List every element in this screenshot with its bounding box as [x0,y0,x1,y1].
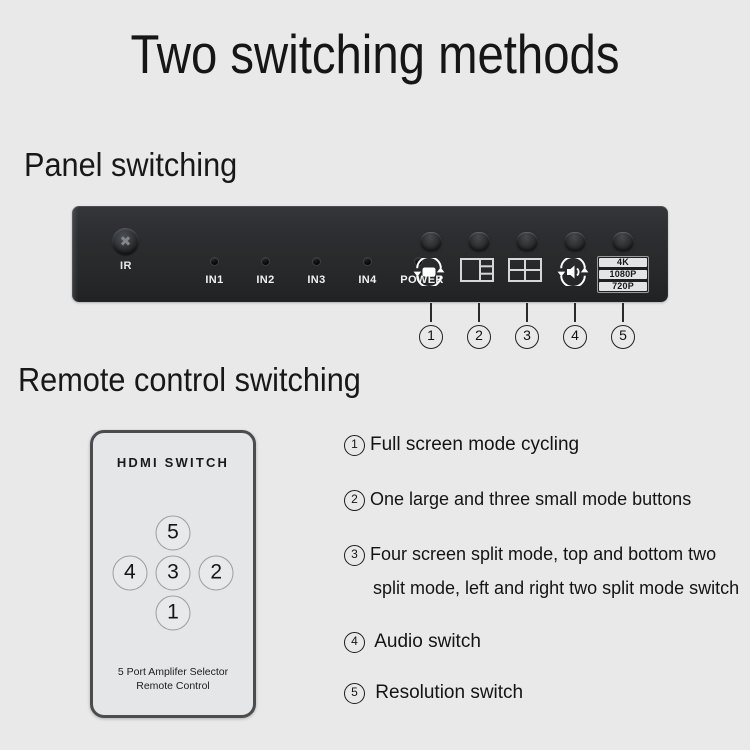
page-root: Two switching methods Panel switching ✖ … [0,0,750,750]
legend-number-3: 3 [344,545,365,566]
one-large-three-small-split-icon [460,258,498,286]
four-screen-split-icon [508,258,546,286]
legend-item-2: 2One large and three small mode buttons [344,487,691,512]
led-in2 [262,258,269,265]
legend-text-4: Audio switch [370,631,481,652]
legend-item-1: 1Full screen mode cycling [344,432,579,457]
legend-number-5: 5 [344,683,365,704]
resolution-line-4k: 4K [599,258,647,267]
legend-number-2: 2 [344,490,365,511]
ir-sensor-icon: ✖ [112,228,139,255]
led-in3 [313,258,320,265]
ir-label: IR [108,260,144,272]
section-title-remote-switching: Remote control switching [18,361,361,399]
callout-number-3: 3 [515,325,539,349]
legend-number-1: 1 [344,435,365,456]
led-label-in1: IN1 [205,274,223,286]
resolution-line-1080p: 1080P [599,270,647,279]
ir-sensor-glint: ✖ [118,233,134,249]
remote-button-2[interactable]: 2 [199,556,234,591]
legend-item-4: 4 Audio switch [344,629,481,654]
legend-text-2: One large and three small mode buttons [370,489,691,509]
device-front-panel: ✖ IR IN1 IN2 IN3 IN4 POWER [72,206,668,302]
legend-item-5: 5 Resolution switch [344,680,523,705]
legend-text-1: Full screen mode cycling [370,434,579,455]
remote-button-5[interactable]: 5 [156,516,191,551]
remote-footer: 5 Port Amplifer Selector Remote Control [93,665,253,693]
one-large-three-small-button[interactable] [469,232,490,251]
callout-number-4: 4 [563,325,587,349]
legend-item-3: 3Four screen split mode, top and bottom … [344,542,739,601]
audio-switch-icon [556,258,594,286]
resolution-switch-button[interactable] [613,232,634,251]
led-label-in2: IN2 [256,274,274,286]
legend-text-5: Resolution switch [370,682,523,703]
four-screen-split-button[interactable] [517,232,538,251]
callout-leader-2 [478,303,480,322]
legend-text-3-line2: split mode, left and right two split mod… [344,576,739,601]
remote-footer-line1: 5 Port Amplifer Selector [93,665,253,679]
page-title: Two switching methods [53,22,698,86]
callout-leader-4 [574,303,576,322]
led-label-in4: IN4 [358,274,376,286]
legend-number-4: 4 [344,632,365,653]
callout-number-1: 1 [419,325,443,349]
remote-footer-line2: Remote Control [93,679,253,693]
remote-button-4[interactable]: 4 [112,556,147,591]
resolution-switch-icon: 4K 1080P 720P [597,256,649,293]
remote-button-3[interactable]: 3 [156,556,191,591]
full-screen-cycle-icon [412,258,450,286]
led-label-in3: IN3 [307,274,325,286]
resolution-line-720p: 720P [599,282,647,291]
led-in1 [211,258,218,265]
remote-button-1[interactable]: 1 [156,596,191,631]
audio-switch-button[interactable] [565,232,586,251]
callout-number-2: 2 [467,325,491,349]
remote-brand-label: HDMI SWITCH [93,455,253,470]
section-title-panel-switching: Panel switching [24,146,237,184]
legend-text-3: Four screen split mode, top and bottom t… [370,544,716,564]
callout-leader-3 [526,303,528,322]
full-screen-mode-button[interactable] [421,232,442,251]
led-in4 [364,258,371,265]
callout-leader-1 [430,303,432,322]
callout-number-5: 5 [611,325,635,349]
remote-control: HDMI SWITCH 5 4 3 2 1 5 Port Amplifer Se… [90,430,256,718]
callout-leader-5 [622,303,624,322]
